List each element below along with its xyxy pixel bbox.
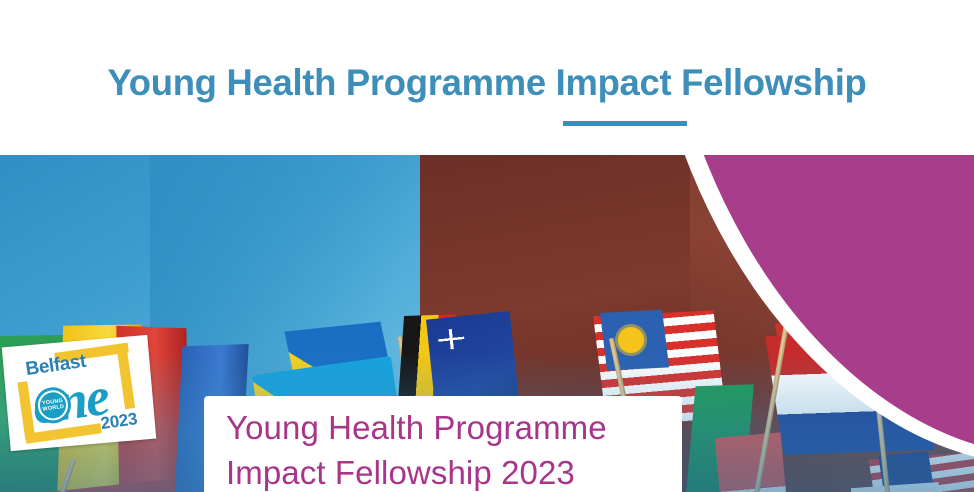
- title-underline-accent: [563, 121, 687, 126]
- logo-bracket-right-icon: [117, 346, 136, 409]
- page-header: Young Health Programme Impact Fellowship: [0, 0, 974, 155]
- headline-line-2: Impact Fellowship 2023: [226, 450, 682, 492]
- hero-banner: Belfast one YOUNG WORLD 2023 Young Healt…: [0, 155, 974, 492]
- young-world-badge-ring: YOUNG WORLD: [36, 388, 70, 422]
- headline-box: Young Health Programme Impact Fellowship…: [204, 396, 682, 492]
- headline-line-1: Young Health Programme: [226, 405, 682, 450]
- flag-emblem: [618, 327, 644, 353]
- logo-year-label: 2023: [99, 409, 138, 434]
- badge-line-2: WORLD: [42, 404, 64, 413]
- page-title: Young Health Programme Impact Fellowship: [7, 62, 966, 104]
- poster-page: Young Health Programme Impact Fellowship: [0, 0, 974, 492]
- belfast-one-young-world-logo: Belfast one YOUNG WORLD 2023: [2, 335, 157, 451]
